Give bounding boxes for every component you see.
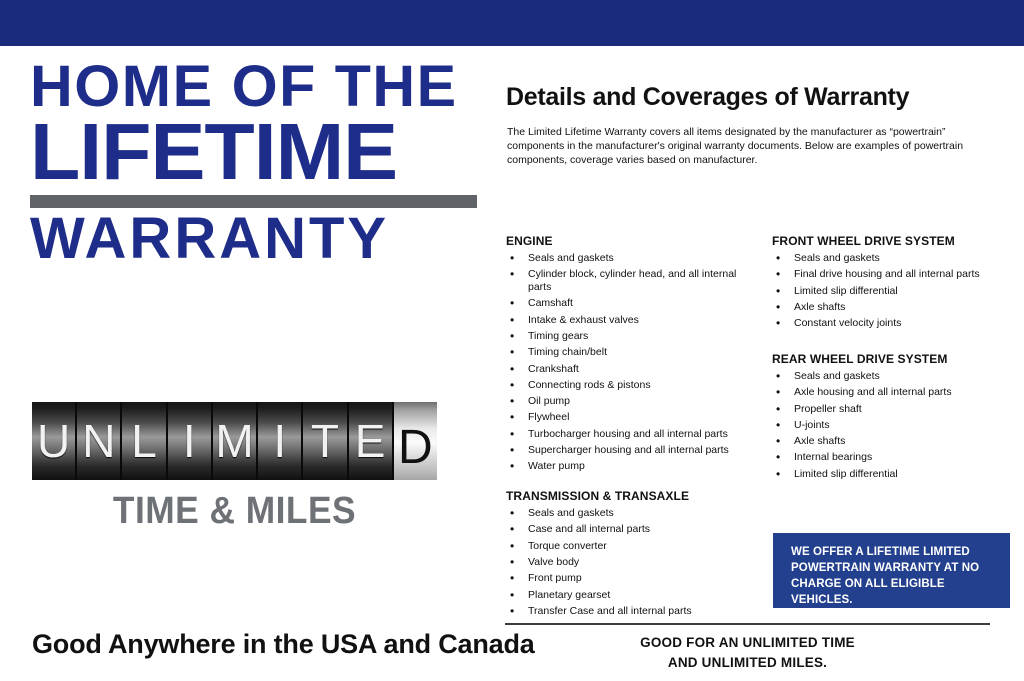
odometer-char: I <box>183 418 196 464</box>
coverage-item-label: Limited slip differential <box>794 285 898 297</box>
coverage-item-label: Final drive housing and all internal par… <box>794 268 980 280</box>
headline-line-warranty: WARRANTY <box>30 212 478 265</box>
odometer-strip: U N L I M I T E D <box>32 402 437 480</box>
details-intro-paragraph: The Limited Lifetime Warranty covers all… <box>507 126 994 168</box>
bullet-icon: • <box>776 467 780 482</box>
odometer-cell: N <box>77 402 122 480</box>
coverage-item-label: Propeller shaft <box>794 403 862 415</box>
bullet-icon: • <box>510 329 514 344</box>
coverage-item-label: Cylinder block, cylinder head, and all i… <box>528 268 736 293</box>
headline-line-lifetime: LIFETIME <box>30 115 491 189</box>
coverage-item: •U-joints <box>772 419 1022 432</box>
bullet-icon: • <box>510 604 514 619</box>
coverage-list: •Seals and gaskets •Cylinder block, cyli… <box>506 252 760 473</box>
odometer-cell: M <box>213 402 258 480</box>
bullet-icon: • <box>776 267 780 282</box>
coverage-item-label: Axle shafts <box>794 435 845 447</box>
coverage-item: •Torque converter <box>506 540 760 553</box>
bullet-icon: • <box>776 402 780 417</box>
coverage-item: •Axle shafts <box>772 301 1022 314</box>
coverage-item: •Axle housing and all internal parts <box>772 386 1022 399</box>
coverage-item: •Oil pump <box>506 395 760 408</box>
coverage-item-label: Crankshaft <box>528 363 579 375</box>
coverage-item-label: Axle shafts <box>794 301 845 313</box>
coverage-item-label: Water pump <box>528 460 585 472</box>
coverage-item: •Axle shafts <box>772 435 1022 448</box>
bullet-icon: • <box>510 522 514 537</box>
coverage-item: •Final drive housing and all internal pa… <box>772 268 1022 281</box>
odometer-char: E <box>355 418 386 464</box>
coverage-item: •Seals and gaskets <box>506 507 760 520</box>
coverage-item: •Propeller shaft <box>772 403 1022 416</box>
coverage-list: •Seals and gaskets •Axle housing and all… <box>772 370 1022 481</box>
coverage-group-rear-wheel-drive: REAR WHEEL DRIVE SYSTEM •Seals and gaske… <box>772 352 1022 481</box>
coverage-group-transmission: TRANSMISSION & TRANSAXLE •Seals and gask… <box>506 489 760 618</box>
bullet-icon: • <box>510 427 514 442</box>
coverage-item: •Supercharger housing and all internal p… <box>506 444 760 457</box>
coverage-item-label: Constant velocity joints <box>794 317 901 329</box>
bullet-icon: • <box>510 267 514 282</box>
headline-block: HOME OF THE LIFETIME WARRANTY <box>30 60 478 265</box>
coverage-item: •Flywheel <box>506 411 760 424</box>
odometer-cell: L <box>122 402 167 480</box>
coverage-item-label: Torque converter <box>528 540 607 552</box>
odometer-char: U <box>37 418 70 464</box>
bullet-icon: • <box>510 296 514 311</box>
coverage-item: •Timing chain/belt <box>506 346 760 359</box>
coverage-item: •Intake & exhaust valves <box>506 314 760 327</box>
bullet-icon: • <box>776 450 780 465</box>
coverage-item: •Seals and gaskets <box>772 370 1022 383</box>
coverage-item: •Seals and gaskets <box>506 252 760 265</box>
bullet-icon: • <box>776 300 780 315</box>
coverage-list: •Seals and gaskets •Case and all interna… <box>506 507 760 618</box>
coverage-item-label: Axle housing and all internal parts <box>794 386 952 398</box>
coverage-item: •Internal bearings <box>772 451 1022 464</box>
coverage-item-label: Case and all internal parts <box>528 523 650 535</box>
coverage-item-label: Limited slip differential <box>794 468 898 480</box>
left-brand-panel: HOME OF THE LIFETIME WARRANTY U N L I M … <box>0 46 500 681</box>
coverage-item: •Planetary gearset <box>506 589 760 602</box>
coverage-item-label: Turbocharger housing and all internal pa… <box>528 428 728 440</box>
coverage-heading: TRANSMISSION & TRANSAXLE <box>506 489 760 503</box>
coverage-group-engine: ENGINE •Seals and gaskets •Cylinder bloc… <box>506 234 760 473</box>
coverage-item: •Limited slip differential <box>772 468 1022 481</box>
coverage-group-front-wheel-drive: FRONT WHEEL DRIVE SYSTEM •Seals and gask… <box>772 234 1022 330</box>
bullet-icon: • <box>510 459 514 474</box>
coverage-list: •Seals and gaskets •Final drive housing … <box>772 252 1022 330</box>
odometer-char: D <box>398 424 433 472</box>
coverage-item-label: Intake & exhaust valves <box>528 314 639 326</box>
bullet-icon: • <box>510 571 514 586</box>
right-details-panel: Details and Coverages of Warranty The Li… <box>500 46 1024 681</box>
headline-line-home-of-the: HOME OF THE <box>30 60 487 113</box>
odometer-char: I <box>273 418 286 464</box>
coverage-item: •Front pump <box>506 572 760 585</box>
bullet-icon: • <box>510 313 514 328</box>
bullet-icon: • <box>776 284 780 299</box>
coverage-item-label: Flywheel <box>528 411 569 423</box>
right-footer-line2: AND UNLIMITED MILES. <box>505 653 990 673</box>
coverage-item-label: Connecting rods & pistons <box>528 379 651 391</box>
right-footer-text: GOOD FOR AN UNLIMITED TIME AND UNLIMITED… <box>505 633 990 672</box>
bullet-icon: • <box>776 251 780 266</box>
odometer-cell: I <box>168 402 213 480</box>
coverage-heading: REAR WHEEL DRIVE SYSTEM <box>772 352 1022 366</box>
coverage-item-label: Timing gears <box>528 330 588 342</box>
bullet-icon: • <box>510 555 514 570</box>
coverage-item: •Case and all internal parts <box>506 523 760 536</box>
coverage-item: •Limited slip differential <box>772 285 1022 298</box>
bullet-icon: • <box>510 378 514 393</box>
coverage-item: •Valve body <box>506 556 760 569</box>
coverage-item-label: Front pump <box>528 572 582 584</box>
coverage-column-right: FRONT WHEEL DRIVE SYSTEM •Seals and gask… <box>772 234 1022 497</box>
coverage-item-label: Seals and gaskets <box>794 370 880 382</box>
bullet-icon: • <box>510 588 514 603</box>
coverage-item-label: Timing chain/belt <box>528 346 607 358</box>
bullet-icon: • <box>776 385 780 400</box>
odometer-graphic: U N L I M I T E D TIME & MILES <box>32 402 437 533</box>
coverage-item: •Cylinder block, cylinder head, and all … <box>506 268 760 294</box>
coverage-item-label: Planetary gearset <box>528 589 610 601</box>
odometer-char: L <box>131 418 157 464</box>
bullet-icon: • <box>510 410 514 425</box>
odometer-subtitle: TIME & MILES <box>46 490 423 533</box>
bullet-icon: • <box>776 418 780 433</box>
left-footer-text: Good Anywhere in the USA and Canada <box>32 629 535 660</box>
odometer-char: N <box>82 418 115 464</box>
bullet-icon: • <box>776 434 780 449</box>
bullet-icon: • <box>510 506 514 521</box>
coverage-item-label: Seals and gaskets <box>528 252 614 264</box>
coverage-item-label: Valve body <box>528 556 579 568</box>
coverage-column-left: ENGINE •Seals and gaskets •Cylinder bloc… <box>506 234 760 634</box>
coverage-item: •Connecting rods & pistons <box>506 379 760 392</box>
coverage-item: •Timing gears <box>506 330 760 343</box>
top-banner <box>0 0 1024 46</box>
coverage-item: •Water pump <box>506 460 760 473</box>
details-title: Details and Coverages of Warranty <box>506 83 909 112</box>
bullet-icon: • <box>510 251 514 266</box>
right-footer-line1: GOOD FOR AN UNLIMITED TIME <box>505 633 990 653</box>
coverage-item: •Turbocharger housing and all internal p… <box>506 428 760 441</box>
odometer-cell-rolling: D <box>394 402 437 480</box>
coverage-item: •Crankshaft <box>506 363 760 376</box>
bullet-icon: • <box>510 394 514 409</box>
odometer-cell: T <box>303 402 348 480</box>
odometer-cell: I <box>258 402 303 480</box>
coverage-item: •Camshaft <box>506 297 760 310</box>
coverage-item: •Seals and gaskets <box>772 252 1022 265</box>
coverage-heading: ENGINE <box>506 234 760 248</box>
bullet-icon: • <box>510 362 514 377</box>
bullet-icon: • <box>510 539 514 554</box>
coverage-item-label: Internal bearings <box>794 451 872 463</box>
coverage-item-label: Camshaft <box>528 297 573 309</box>
footer-divider-rule <box>505 623 990 625</box>
coverage-item-label: Seals and gaskets <box>794 252 880 264</box>
bullet-icon: • <box>510 345 514 360</box>
coverage-item: •Transfer Case and all internal parts <box>506 605 760 618</box>
odometer-char: T <box>311 418 339 464</box>
coverage-item-label: Transfer Case and all internal parts <box>528 605 692 617</box>
coverage-item-label: Supercharger housing and all internal pa… <box>528 444 729 456</box>
bullet-icon: • <box>776 369 780 384</box>
bullet-icon: • <box>510 443 514 458</box>
odometer-char: M <box>215 418 253 464</box>
warranty-callout-box: WE OFFER A LIFETIME LIMITED POWERTRAIN W… <box>773 533 1010 608</box>
coverage-heading: FRONT WHEEL DRIVE SYSTEM <box>772 234 1022 248</box>
odometer-cell: E <box>349 402 394 480</box>
warranty-callout-text: WE OFFER A LIFETIME LIMITED POWERTRAIN W… <box>791 545 996 608</box>
coverage-item-label: Oil pump <box>528 395 570 407</box>
coverage-item-label: Seals and gaskets <box>528 507 614 519</box>
odometer-cell: U <box>32 402 77 480</box>
coverage-item-label: U-joints <box>794 419 830 431</box>
coverage-item: •Constant velocity joints <box>772 317 1022 330</box>
bullet-icon: • <box>776 316 780 331</box>
